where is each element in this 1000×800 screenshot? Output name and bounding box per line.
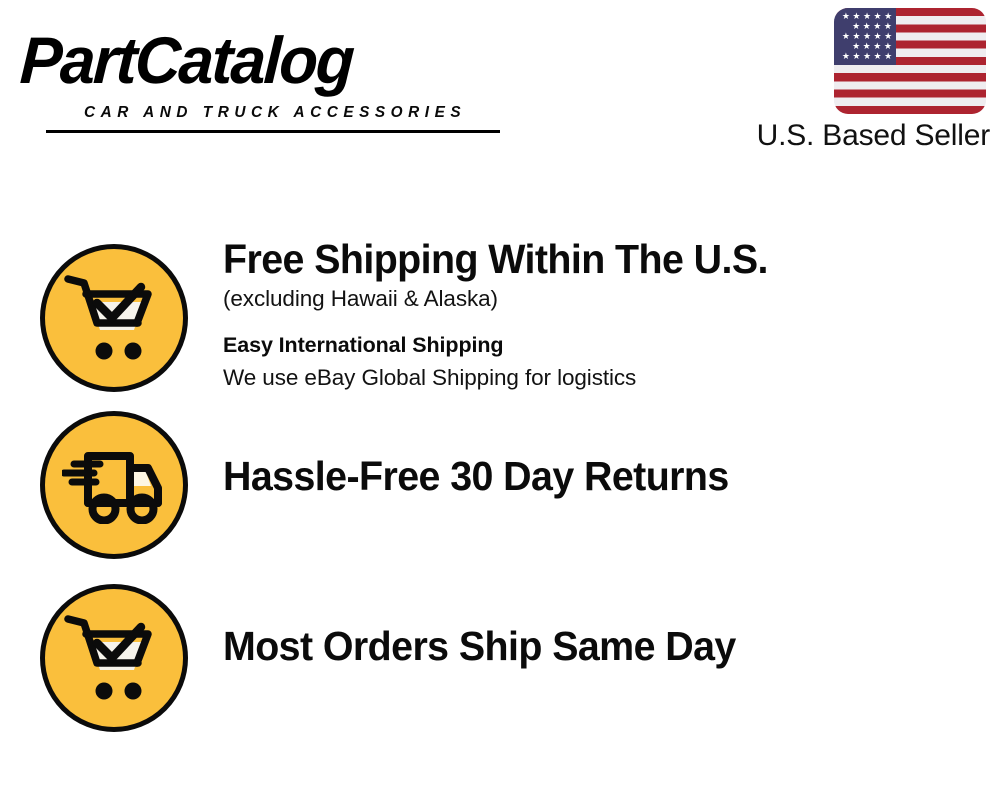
flag-star-row: ★ ★ ★ ★ ★: [834, 12, 900, 21]
flag-canton: ★ ★ ★ ★ ★ ★ ★ ★ ★ ★ ★ ★ ★ ★ ★ ★ ★ ★ ★ ★ …: [834, 8, 896, 65]
flag-star-row: ★ ★ ★ ★: [834, 42, 910, 51]
feature-title: Most Orders Ship Same Day: [223, 622, 950, 670]
logo-underline-rule: [46, 130, 500, 133]
feature-title: Free Shipping Within The U.S.: [223, 232, 950, 283]
feature-text-block: Hassle-Free 30 Day Returns: [188, 408, 980, 500]
shopping-cart-check-icon: [40, 244, 188, 392]
banner-header: PartCatalog CAR AND TRUCK ACCESSORIES ★ …: [0, 0, 1000, 175]
promo-banner: PartCatalog CAR AND TRUCK ACCESSORIES ★ …: [0, 0, 1000, 800]
flag-star-row: ★ ★ ★ ★ ★: [834, 32, 900, 41]
feature-row: Most Orders Ship Same Day: [40, 580, 980, 750]
brand-logo[interactable]: PartCatalog CAR AND TRUCK ACCESSORIES: [22, 26, 492, 116]
us-based-seller-badge: ★ ★ ★ ★ ★ ★ ★ ★ ★ ★ ★ ★ ★ ★ ★ ★ ★ ★ ★ ★ …: [720, 8, 990, 158]
flag-star-row: ★ ★ ★ ★ ★: [834, 52, 900, 61]
feature-row: Free Shipping Within The U.S. (excluding…: [40, 232, 980, 412]
feature-subtitle: Easy International Shipping: [223, 328, 980, 362]
shopping-cart-check-icon: [40, 584, 188, 732]
feature-text-block: Free Shipping Within The U.S. (excluding…: [188, 232, 980, 394]
brand-wordmark: PartCatalog: [19, 26, 355, 94]
feature-text-block: Most Orders Ship Same Day: [188, 580, 980, 670]
delivery-truck-icon: [40, 411, 188, 559]
flag-star-row: ★ ★ ★ ★: [834, 22, 910, 31]
feature-note: (excluding Hawaii & Alaska): [223, 283, 980, 315]
feature-row: Hassle-Free 30 Day Returns: [40, 408, 980, 578]
feature-title: Hassle-Free 30 Day Returns: [223, 452, 950, 500]
us-flag-icon: ★ ★ ★ ★ ★ ★ ★ ★ ★ ★ ★ ★ ★ ★ ★ ★ ★ ★ ★ ★ …: [834, 8, 986, 114]
brand-tagline: CAR AND TRUCK ACCESSORIES: [84, 104, 466, 121]
text-spacer: [223, 315, 980, 328]
feature-subtext: We use eBay Global Shipping for logistic…: [223, 362, 980, 394]
us-based-seller-label: U.S. Based Seller: [757, 118, 990, 154]
